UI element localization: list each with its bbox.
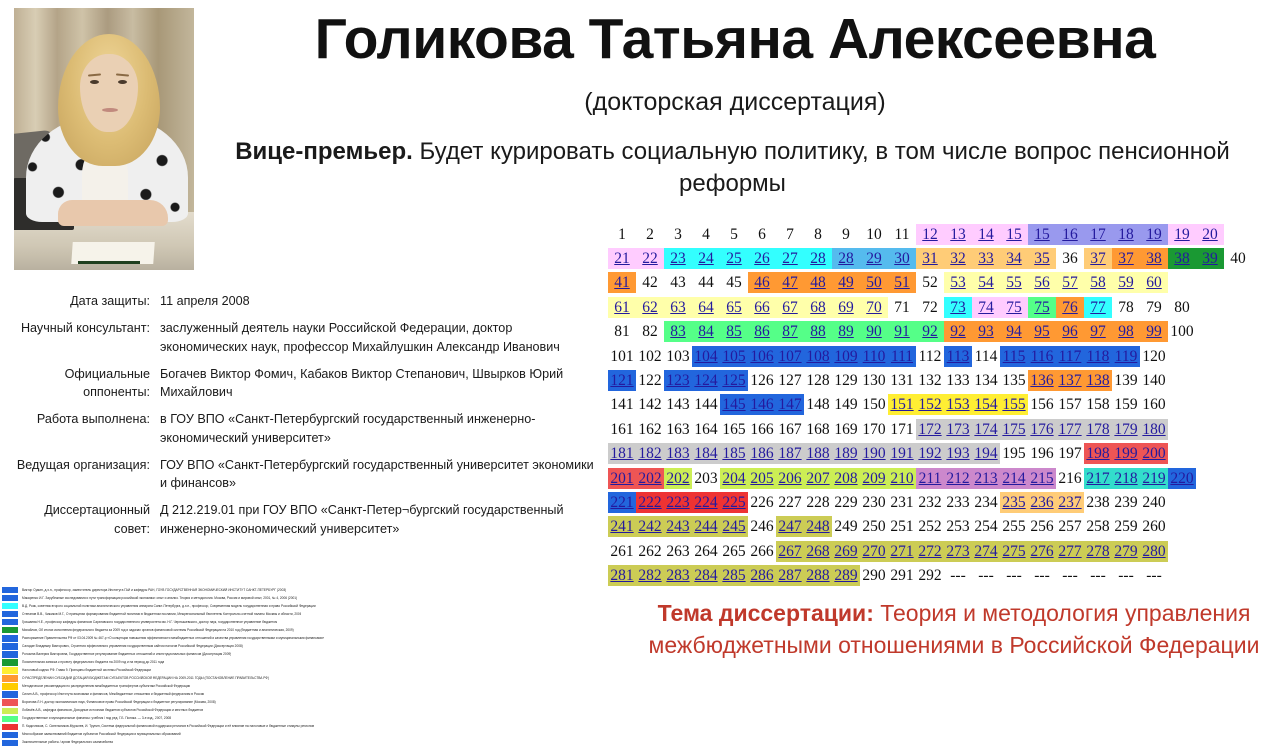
reference-link[interactable]: 50 [860, 272, 888, 293]
reference-link[interactable]: 110 [860, 346, 888, 367]
reference-link[interactable]: 267 [776, 541, 804, 562]
reference-link[interactable]: 172 [916, 419, 944, 440]
reference-link[interactable]: 279 [1112, 541, 1140, 562]
footnote-color-swatch [2, 595, 18, 601]
reference-link[interactable]: 75 [1000, 297, 1028, 318]
reference-link[interactable]: 237 [1056, 492, 1084, 513]
reference-link[interactable]: 106 [748, 346, 776, 367]
reference-number: 257 [1056, 516, 1084, 537]
reference-link[interactable]: 281 [608, 565, 636, 586]
grid-row: 1211221231241251261271281291301311321331… [608, 368, 1280, 392]
reference-number: 7 [776, 224, 804, 245]
reference-link[interactable]: 75 [1028, 297, 1056, 318]
footnote-color-swatch [2, 667, 18, 673]
reference-link[interactable]: 28 [804, 248, 832, 269]
reference-number: 249 [832, 516, 860, 537]
footnote-item: Заключительные работы / архив Федерально… [2, 739, 602, 747]
reference-link[interactable]: 277 [1056, 541, 1084, 562]
reference-link[interactable]: 211 [916, 468, 944, 489]
reference-link[interactable]: 275 [1000, 541, 1028, 562]
reference-link[interactable]: 247 [776, 516, 804, 537]
reference-link[interactable]: 204 [720, 468, 748, 489]
reference-link[interactable]: 77 [1084, 297, 1112, 318]
reference-link[interactable]: 268 [804, 541, 832, 562]
reference-link[interactable]: 222 [636, 492, 664, 513]
reference-link[interactable]: 35 [1028, 248, 1056, 269]
reference-link[interactable]: 66 [748, 297, 776, 318]
reference-link[interactable]: 68 [804, 297, 832, 318]
reference-link[interactable]: 220 [1168, 468, 1196, 489]
grid-row: 2012022022032042052062072082092102112122… [608, 466, 1280, 490]
reference-number: 112 [916, 346, 944, 367]
reference-link[interactable]: 283 [664, 565, 692, 586]
reference-link[interactable]: 31 [916, 248, 944, 269]
reference-number: 5 [720, 224, 748, 245]
reference-link[interactable]: 91 [888, 321, 916, 342]
reference-link[interactable]: 180 [1140, 419, 1168, 440]
reference-link[interactable]: 118 [1084, 346, 1112, 367]
reference-link[interactable]: 119 [1112, 346, 1140, 367]
reference-link[interactable]: 69 [832, 297, 860, 318]
reference-link[interactable]: 223 [664, 492, 692, 513]
reference-link[interactable]: 74 [972, 297, 1000, 318]
reference-link[interactable]: 16 [1056, 224, 1084, 245]
info-row-value: Богачев Виктор Фомич, Кабаков Виктор Сте… [160, 365, 600, 402]
reference-link[interactable]: 270 [860, 541, 888, 562]
reference-link[interactable]: 23 [664, 248, 692, 269]
reference-link[interactable]: 217 [1084, 468, 1112, 489]
reference-link[interactable]: 186 [748, 443, 776, 464]
reference-link[interactable]: 137 [1056, 370, 1084, 391]
reference-link[interactable]: 28 [832, 248, 860, 269]
footnote-text: Степанов В.В., Чижиков М.Г., О принципах… [22, 612, 301, 617]
reference-link[interactable]: 97 [1084, 321, 1112, 342]
reference-link[interactable]: 214 [1000, 468, 1028, 489]
reference-link[interactable]: 105 [720, 346, 748, 367]
reference-link[interactable]: 221 [608, 492, 636, 513]
reference-link[interactable]: 202 [636, 468, 664, 489]
reference-link[interactable]: 288 [804, 565, 832, 586]
reference-link[interactable]: 117 [1056, 346, 1084, 367]
reference-link[interactable]: 67 [776, 297, 804, 318]
reference-link[interactable]: 276 [1028, 541, 1056, 562]
reference-number: 196 [1028, 443, 1056, 464]
reference-link[interactable]: 39 [1196, 248, 1224, 269]
reference-link[interactable]: 287 [776, 565, 804, 586]
reference-link[interactable]: 212 [944, 468, 972, 489]
footnote-color-swatch [2, 724, 18, 730]
reference-number: 256 [1028, 516, 1056, 537]
reference-link[interactable]: 155 [1000, 394, 1028, 415]
reference-link[interactable]: 113 [944, 346, 972, 367]
info-row-label: Работа выполнена: [8, 410, 160, 447]
reference-link[interactable]: 12 [916, 224, 944, 245]
reference-link[interactable]: 63 [664, 297, 692, 318]
reference-link[interactable]: 124 [692, 370, 720, 391]
reference-link[interactable]: 207 [804, 468, 832, 489]
reference-link[interactable]: 62 [636, 297, 664, 318]
reference-link[interactable]: 219 [1140, 468, 1168, 489]
reference-link[interactable]: 20 [1196, 224, 1224, 245]
reference-link[interactable]: 209 [860, 468, 888, 489]
reference-number: 290 [860, 565, 888, 586]
grid-row: 2212222232242252262272282292302312322332… [608, 490, 1280, 514]
reference-number: 42 [636, 272, 664, 293]
footnote-item: Распоряжение Правительства РФ от 03.04.2… [2, 634, 602, 642]
reference-link[interactable]: 208 [832, 468, 860, 489]
reference-link[interactable]: 152 [916, 394, 944, 415]
reference-link[interactable]: 87 [776, 321, 804, 342]
reference-link[interactable]: 121 [608, 370, 636, 391]
reference-number: 261 [608, 541, 636, 562]
reference-link[interactable]: 190 [860, 443, 888, 464]
reference-number: 161 [608, 419, 636, 440]
reference-link[interactable]: 174 [972, 419, 1000, 440]
reference-link[interactable]: 33 [972, 248, 1000, 269]
reference-number: 122 [636, 370, 664, 391]
reference-link[interactable]: 93 [972, 321, 1000, 342]
reference-link[interactable]: 191 [888, 443, 916, 464]
reference-link[interactable]: 179 [1112, 419, 1140, 440]
reference-link[interactable]: 15 [1000, 224, 1028, 245]
reference-number: 11 [888, 224, 916, 245]
reference-number: 165 [720, 419, 748, 440]
reference-link[interactable]: 177 [1056, 419, 1084, 440]
reference-link[interactable]: 153 [944, 394, 972, 415]
footnote-item: Рогозина Валерия Викторовна, Государстве… [2, 650, 602, 658]
footnote-text: Саладзе Владимир Викторович, Стратегия э… [22, 644, 243, 649]
reference-link[interactable]: 96 [1056, 321, 1084, 342]
reference-link[interactable]: 47 [776, 272, 804, 293]
reference-link[interactable]: 125 [720, 370, 748, 391]
reference-number: 8 [804, 224, 832, 245]
reference-link[interactable]: 145 [720, 394, 748, 415]
reference-link[interactable]: 46 [748, 272, 776, 293]
reference-link[interactable]: 241 [608, 516, 636, 537]
reference-number: 259 [1112, 516, 1140, 537]
reference-link[interactable]: 138 [1084, 370, 1112, 391]
footnote-text: Гришаева Н.Е., профессор кафедры финансо… [22, 620, 277, 625]
reference-link[interactable]: 55 [1000, 272, 1028, 293]
footnote-color-swatch [2, 732, 18, 738]
reference-link[interactable]: 213 [972, 468, 1000, 489]
footnote-text: Воронова Л.Н. доктор экономических наук,… [22, 700, 216, 705]
reference-link[interactable]: 192 [916, 443, 944, 464]
footnote-text: Рогозина Валерия Викторовна, Государстве… [22, 652, 231, 657]
reference-link[interactable]: 200 [1140, 443, 1168, 464]
reference-link[interactable]: 244 [692, 516, 720, 537]
reference-number: 203 [692, 468, 720, 489]
reference-link[interactable]: 123 [664, 370, 692, 391]
reference-link[interactable]: 173 [944, 419, 972, 440]
reference-link[interactable]: 59 [1112, 272, 1140, 293]
reference-link[interactable]: 116 [1028, 346, 1056, 367]
reference-link[interactable]: 242 [636, 516, 664, 537]
reference-link[interactable]: 218 [1112, 468, 1140, 489]
reference-link[interactable]: 61 [608, 297, 636, 318]
reference-link[interactable]: 274 [972, 541, 1000, 562]
footnote-text: Многообразие заимствований бюджетов субъ… [22, 732, 181, 737]
reference-number: 3 [664, 224, 692, 245]
reference-number: 162 [636, 419, 664, 440]
eye-right [118, 80, 127, 84]
reference-link[interactable]: 21 [608, 248, 636, 269]
reference-link[interactable]: 90 [860, 321, 888, 342]
reference-number: 163 [664, 419, 692, 440]
info-row-label: Официальные оппоненты: [8, 365, 160, 402]
reference-number: 255 [1000, 516, 1028, 537]
reference-link[interactable]: 48 [804, 272, 832, 293]
reference-link[interactable]: 60 [1140, 272, 1168, 293]
reference-link[interactable]: 99 [1140, 321, 1168, 342]
slide-root: Голикова Татьяна Алексеевна (докторская … [0, 0, 1280, 720]
reference-number: 292 [916, 565, 944, 586]
reference-link[interactable]: 147 [776, 394, 804, 415]
footnote-item: Гришаева Н.Е., профессор кафедры финансо… [2, 618, 602, 626]
reference-link[interactable]: 115 [1000, 346, 1028, 367]
grid-row: 1011021031041051061071081091101111121131… [608, 344, 1280, 368]
reference-link[interactable]: 38 [1168, 248, 1196, 269]
reference-link[interactable]: 205 [748, 468, 776, 489]
reference-link[interactable]: 243 [664, 516, 692, 537]
info-row-value: 11 апреля 2008 [160, 292, 600, 310]
grid-row: 2412422432442452462472482492502512522532… [608, 515, 1280, 539]
reference-link[interactable]: 188 [804, 443, 832, 464]
reference-link[interactable]: 269 [832, 541, 860, 562]
reference-number: 120 [1140, 346, 1168, 367]
reference-link[interactable]: 15 [1028, 224, 1056, 245]
reference-number: 167 [776, 419, 804, 440]
reference-number: --- [1000, 565, 1028, 586]
reference-link[interactable]: 184 [692, 443, 720, 464]
reference-link[interactable]: 193 [944, 443, 972, 464]
reference-link[interactable]: 183 [664, 443, 692, 464]
reference-number: 103 [664, 346, 692, 367]
reference-link[interactable]: 92 [916, 321, 944, 342]
reference-link[interactable]: 107 [776, 346, 804, 367]
footnote-color-swatch [2, 643, 18, 649]
info-row: Официальные оппоненты:Богачев Виктор Фом… [8, 365, 600, 402]
reference-link[interactable]: 34 [1000, 248, 1028, 269]
reference-link[interactable]: 272 [916, 541, 944, 562]
reference-number: 1 [608, 224, 636, 245]
reference-link[interactable]: 92 [944, 321, 972, 342]
reference-link[interactable]: 104 [692, 346, 720, 367]
reference-number: 263 [664, 541, 692, 562]
info-row: Работа выполнена:в ГОУ ВПО «Санкт-Петерб… [8, 410, 600, 447]
reference-link[interactable]: 286 [748, 565, 776, 586]
reference-link[interactable]: 13 [944, 224, 972, 245]
reference-number: 133 [944, 370, 972, 391]
reference-link[interactable]: 289 [832, 565, 860, 586]
reference-link[interactable]: 280 [1140, 541, 1168, 562]
reference-link[interactable]: 182 [636, 443, 664, 464]
reference-link[interactable]: 29 [860, 248, 888, 269]
mouth [102, 108, 118, 112]
reference-number: 232 [916, 492, 944, 513]
reference-link[interactable]: 37 [1084, 248, 1112, 269]
reference-link[interactable]: 17 [1084, 224, 1112, 245]
reference-number: --- [972, 565, 1000, 586]
reference-link[interactable]: 14 [972, 224, 1000, 245]
reference-number: 139 [1112, 370, 1140, 391]
reference-number: 170 [860, 419, 888, 440]
reference-link[interactable]: 94 [1000, 321, 1028, 342]
footnote-item: О РАСПРЕДЕЛЕНИИ СУБСИДИЙ ДОТАЦИЙ БЮДЖЕТА… [2, 675, 602, 683]
footnote-text: В.Д. Роик, советник второго социальной п… [22, 604, 316, 609]
reference-link[interactable]: 30 [888, 248, 916, 269]
grid-row: 6162636465666768697071727374757576777879… [608, 295, 1280, 319]
reference-number: 142 [636, 394, 664, 415]
grid-row: 281282283284285286287288289290291292----… [608, 563, 1280, 587]
reference-link[interactable]: 25 [720, 248, 748, 269]
reference-number: 150 [860, 394, 888, 415]
footnote-color-swatch [2, 611, 18, 617]
reference-number: --- [1084, 565, 1112, 586]
lead-role-label: Вице-премьер. [235, 138, 413, 165]
footnote-color-swatch [2, 675, 18, 681]
reference-link[interactable]: 64 [692, 297, 720, 318]
hands [58, 200, 168, 226]
info-row-value: Д 212.219.01 при ГОУ ВПО «Санкт-Петер¬бу… [160, 501, 600, 538]
reference-link[interactable]: 224 [692, 492, 720, 513]
reference-link[interactable]: 37 [1112, 248, 1140, 269]
footnote-item: Воронова Л.Н. доктор экономических наук,… [2, 699, 602, 707]
reference-link[interactable]: 83 [664, 321, 692, 342]
reference-number: --- [1112, 565, 1140, 586]
page-subtitle: (докторская диссертация) [200, 88, 1270, 117]
info-row: Ведущая организация:ГОУ ВПО «Санкт-Петер… [8, 456, 600, 493]
reference-link[interactable]: 236 [1028, 492, 1056, 513]
reference-link[interactable]: 151 [888, 394, 916, 415]
reference-link[interactable]: 282 [636, 565, 664, 586]
reference-number: 246 [748, 516, 776, 537]
reference-link[interactable]: 89 [832, 321, 860, 342]
reference-link[interactable]: 187 [776, 443, 804, 464]
footnote-item: Пояснительная записка к проекту федераль… [2, 658, 602, 666]
reference-link[interactable]: 57 [1056, 272, 1084, 293]
reference-number: 126 [748, 370, 776, 391]
reference-link[interactable]: 22 [636, 248, 664, 269]
reference-link[interactable]: 210 [888, 468, 916, 489]
reference-link[interactable]: 65 [720, 297, 748, 318]
reference-number: 52 [916, 272, 944, 293]
lead-paragraph: Вице-премьер. Будет курировать социальну… [200, 136, 1265, 199]
reference-link[interactable]: 194 [972, 443, 1000, 464]
footnote-text: О РАСПРЕДЕЛЕНИИ СУБСИДИЙ ДОТАЦИЙ БЮДЖЕТА… [22, 676, 269, 681]
reference-link[interactable]: 98 [1112, 321, 1140, 342]
reference-link[interactable]: 85 [720, 321, 748, 342]
reference-link[interactable]: 225 [720, 492, 748, 513]
reference-link[interactable]: 248 [804, 516, 832, 537]
reference-number: 82 [636, 321, 664, 342]
reference-link[interactable]: 88 [804, 321, 832, 342]
reference-link[interactable]: 86 [748, 321, 776, 342]
reference-number: 158 [1084, 394, 1112, 415]
reference-link[interactable]: 73 [944, 297, 972, 318]
reference-number: 129 [832, 370, 860, 391]
reference-link[interactable]: 284 [692, 565, 720, 586]
reference-link[interactable]: 111 [888, 346, 916, 367]
reference-link[interactable]: 32 [944, 248, 972, 269]
reference-link[interactable]: 176 [1028, 419, 1056, 440]
grid-row: 1411421431441451461471481491501511521531… [608, 393, 1280, 417]
reference-link[interactable]: 38 [1140, 248, 1168, 269]
reference-link[interactable]: 285 [720, 565, 748, 586]
footnote-color-swatch [2, 635, 18, 641]
reference-link[interactable]: 56 [1028, 272, 1056, 293]
footnote-text: Лобачёв А.В., кафедра финансов, Доходные… [22, 708, 203, 713]
reference-link[interactable]: 136 [1028, 370, 1056, 391]
reference-link[interactable]: 27 [776, 248, 804, 269]
reference-link[interactable]: 206 [776, 468, 804, 489]
reference-link[interactable]: 19 [1168, 224, 1196, 245]
reference-link[interactable]: 278 [1084, 541, 1112, 562]
info-row-label: Научный консультант: [8, 319, 160, 356]
grid-row: 1611621631641651661671681691701711721731… [608, 417, 1280, 441]
reference-link[interactable]: 201 [608, 468, 636, 489]
reference-link[interactable]: 202 [664, 468, 692, 489]
reference-link[interactable]: 24 [692, 248, 720, 269]
footnote-text: Виктор Сумин, д.э.н., профессор, замести… [22, 588, 286, 593]
reference-link[interactable]: 26 [748, 248, 776, 269]
reference-link[interactable]: 19 [1140, 224, 1168, 245]
reference-link[interactable]: 199 [1112, 443, 1140, 464]
reference-number: 43 [664, 272, 692, 293]
reference-link[interactable]: 154 [972, 394, 1000, 415]
dissertation-info-table: Дата защиты:11 апреля 2008Научный консул… [8, 292, 600, 547]
reference-number: 216 [1056, 468, 1084, 489]
footnote-color-swatch [2, 716, 18, 722]
reference-link[interactable]: 49 [832, 272, 860, 293]
reference-link[interactable]: 146 [748, 394, 776, 415]
reference-link[interactable]: 185 [720, 443, 748, 464]
reference-number: 230 [860, 492, 888, 513]
reference-link[interactable]: 189 [832, 443, 860, 464]
reference-link[interactable]: 41 [608, 272, 636, 293]
reference-link[interactable]: 273 [944, 541, 972, 562]
footnote-item: В.Д. Роик, советник второго социальной п… [2, 602, 602, 610]
reference-link[interactable]: 271 [888, 541, 916, 562]
reference-link[interactable]: 181 [608, 443, 636, 464]
grid-row: 12345678910111213141515161718191920 [608, 222, 1280, 246]
reference-link[interactable]: 109 [832, 346, 860, 367]
reference-link[interactable]: 178 [1084, 419, 1112, 440]
reference-link[interactable]: 175 [1000, 419, 1028, 440]
reference-link[interactable]: 53 [944, 272, 972, 293]
reference-link[interactable]: 70 [860, 297, 888, 318]
reference-link[interactable]: 198 [1084, 443, 1112, 464]
reference-link[interactable]: 54 [972, 272, 1000, 293]
reference-link[interactable]: 95 [1028, 321, 1056, 342]
footnote-item: Силин А.В., профессор Института экономик… [2, 691, 602, 699]
reference-number: 258 [1084, 516, 1112, 537]
reference-link[interactable]: 245 [720, 516, 748, 537]
reference-number: 4 [692, 224, 720, 245]
reference-link[interactable]: 235 [1000, 492, 1028, 513]
reference-link[interactable]: 76 [1056, 297, 1084, 318]
footnote-text: Государственные и муниципальные финансы:… [22, 716, 171, 721]
reference-number: 260 [1140, 516, 1168, 537]
reference-link[interactable]: 58 [1084, 272, 1112, 293]
reference-number: 143 [664, 394, 692, 415]
reference-link[interactable]: 84 [692, 321, 720, 342]
reference-link[interactable]: 18 [1112, 224, 1140, 245]
reference-link[interactable]: 215 [1028, 468, 1056, 489]
reference-link[interactable]: 51 [888, 272, 916, 293]
reference-link[interactable]: 108 [804, 346, 832, 367]
reference-number: 229 [832, 492, 860, 513]
